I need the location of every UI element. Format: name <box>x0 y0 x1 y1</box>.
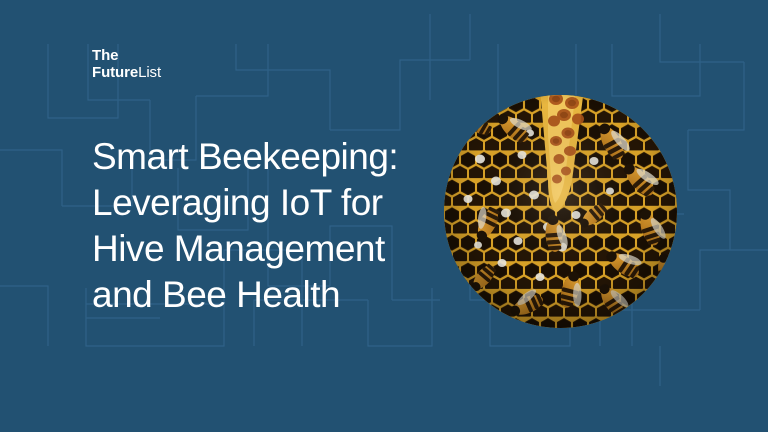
logo-line-the: The <box>92 48 161 65</box>
slide-headline: Smart Beekeeping: Leveraging IoT for Hiv… <box>92 134 452 318</box>
honeycomb-bees-photo <box>444 95 677 328</box>
headline-line-2: Leveraging IoT for <box>92 180 452 226</box>
logo-line-futurelist: FutureList <box>92 65 161 82</box>
logo-word-future: Future <box>92 64 138 81</box>
headline-line-4: and Bee Health <box>92 272 452 318</box>
presentation-slide: The FutureList Smart Beekeeping: Leverag… <box>0 0 768 432</box>
brand-logo[interactable]: The FutureList <box>92 48 161 82</box>
logo-word-list: List <box>138 64 161 81</box>
headline-line-1: Smart Beekeeping: <box>92 134 452 180</box>
headline-line-3: Hive Management <box>92 226 452 272</box>
